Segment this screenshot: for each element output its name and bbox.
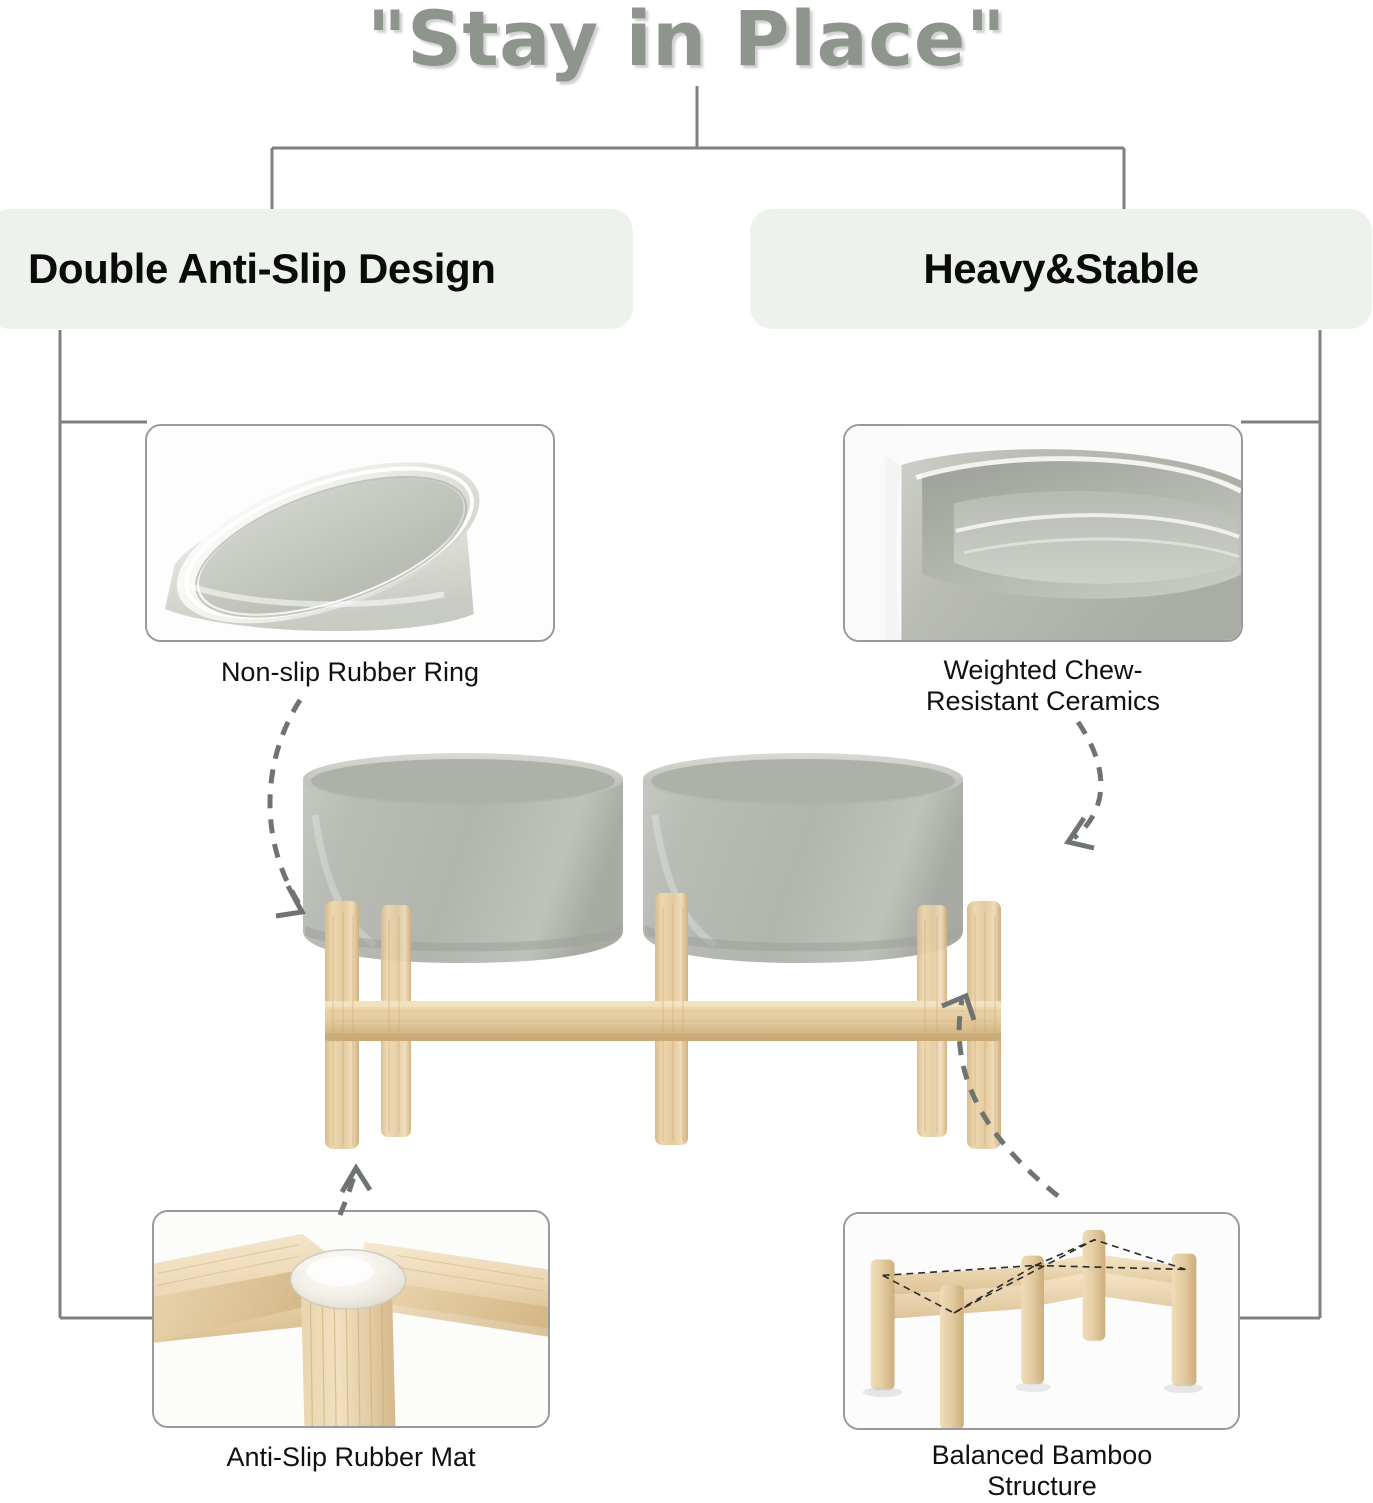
photo-non-slip-rubber-ring: [145, 424, 555, 642]
caption-line: Non-slip Rubber Ring: [145, 657, 555, 688]
page-title: "Stay in Place": [0, 0, 1373, 83]
ceramic-bowl-base-illustration: [147, 426, 553, 642]
caption-line: Resistant Ceramics: [813, 686, 1273, 717]
caption-balanced-bamboo-structure: Balanced Bamboo Structure: [830, 1440, 1254, 1503]
caption-anti-slip-rubber-mat: Anti-Slip Rubber Mat: [152, 1442, 550, 1473]
caption-line: Structure: [830, 1471, 1254, 1502]
category-box-double-anti-slip: Double Anti-Slip Design: [0, 209, 633, 329]
arrowhead-leg-foot: [342, 1168, 370, 1192]
caption-non-slip-rubber-ring: Non-slip Rubber Ring: [145, 657, 555, 688]
center-product-elevated-double-bowl-set: [285, 745, 1085, 1165]
bamboo-leg-rubber-pad-illustration: [154, 1212, 548, 1428]
ceramic-bowl-interior-illustration: [845, 426, 1241, 642]
photo-anti-slip-rubber-mat: [152, 1210, 550, 1428]
infographic-canvas: "Stay in Place" Double Anti: [0, 0, 1373, 1500]
caption-weighted-chew-resistant-ceramics: Weighted Chew- Resistant Ceramics: [813, 655, 1273, 718]
category-label: Heavy&Stable: [923, 245, 1198, 293]
category-label: Double Anti-Slip Design: [28, 245, 496, 293]
caption-line: Balanced Bamboo: [830, 1440, 1254, 1471]
caption-line: Anti-Slip Rubber Mat: [152, 1442, 550, 1473]
caption-line: Weighted Chew-: [813, 655, 1273, 686]
bowl-right: [643, 753, 963, 963]
bamboo-stand-structure-illustration: [845, 1214, 1238, 1430]
photo-balanced-bamboo-structure: [843, 1212, 1240, 1430]
category-box-heavy-stable: Heavy&Stable: [750, 209, 1372, 329]
photo-weighted-chew-resistant-ceramics: [843, 424, 1243, 642]
